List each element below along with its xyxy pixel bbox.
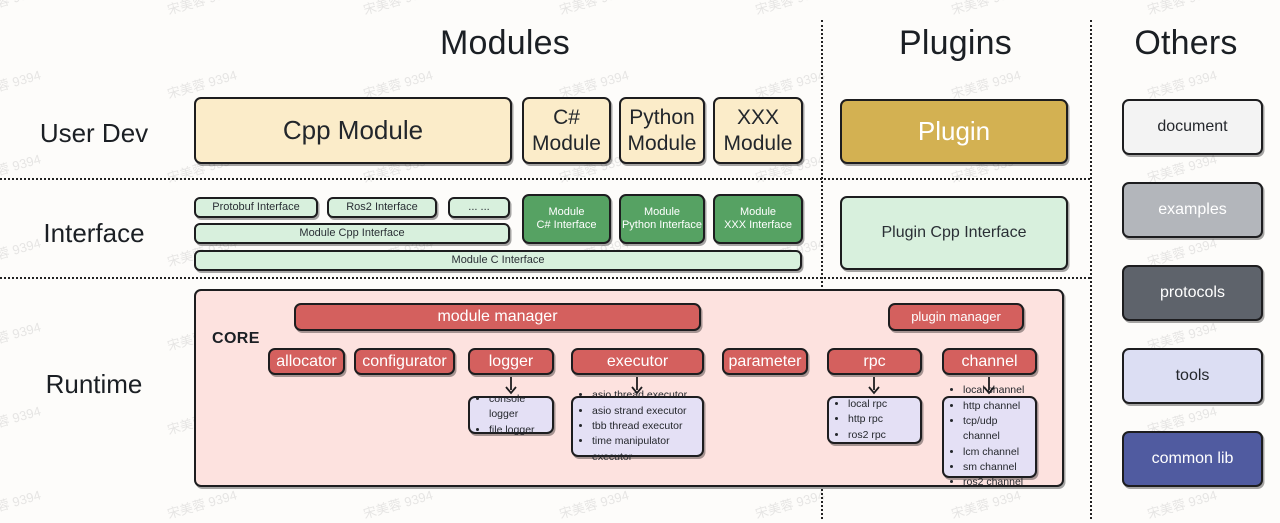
core-label: CORE bbox=[212, 330, 260, 348]
others-common-lib[interactable]: common lib bbox=[1122, 431, 1263, 487]
interface-module-python-line1: Module bbox=[644, 206, 680, 219]
interface-module-python[interactable]: Module Python Interface bbox=[619, 194, 705, 244]
interface-more-label: ... ... bbox=[468, 201, 489, 214]
watermark: 宋美蓉 9394 bbox=[753, 0, 827, 18]
watermark: 宋美蓉 9394 bbox=[0, 317, 43, 355]
component-allocator-label: allocator bbox=[276, 352, 336, 372]
list-item: asio strand executor bbox=[592, 404, 694, 419]
interface-protobuf[interactable]: Protobuf Interface bbox=[194, 197, 318, 218]
others-document-label: document bbox=[1157, 117, 1227, 137]
component-rpc[interactable]: rpc bbox=[827, 348, 922, 375]
interface-module-xxx-line1: Module bbox=[740, 206, 776, 219]
list-item: local channel bbox=[963, 383, 1027, 398]
list-item: local rpc bbox=[848, 397, 887, 412]
others-protocols-label: protocols bbox=[1160, 283, 1225, 303]
list-item: ros2 channel bbox=[963, 475, 1027, 490]
list-item: time manipulator executor bbox=[592, 434, 694, 465]
divider-plugins-others bbox=[1090, 20, 1092, 519]
module-python[interactable]: Python Module bbox=[619, 97, 705, 164]
list-item: tcp/udp channel bbox=[963, 414, 1027, 445]
divider-interface-runtime bbox=[0, 277, 1090, 279]
watermark: 宋美蓉 9394 bbox=[0, 401, 43, 439]
watermark: 宋美蓉 9394 bbox=[0, 0, 43, 18]
list-item: ros2 rpc bbox=[848, 428, 887, 443]
module-csharp[interactable]: C# Module bbox=[522, 97, 611, 164]
others-tools[interactable]: tools bbox=[1122, 348, 1263, 404]
list-item: lcm channel bbox=[963, 445, 1027, 460]
module-python-label-line1: Python bbox=[629, 105, 694, 131]
module-xxx-label-line2: Module bbox=[724, 131, 793, 157]
watermark: 宋美蓉 9394 bbox=[1145, 485, 1219, 523]
component-rpc-label: rpc bbox=[863, 352, 885, 372]
watermark: 宋美蓉 9394 bbox=[165, 0, 239, 18]
watermark: 宋美蓉 9394 bbox=[949, 65, 1023, 103]
interface-module-xxx[interactable]: Module XXX Interface bbox=[713, 194, 803, 244]
watermark: 宋美蓉 9394 bbox=[1145, 0, 1219, 18]
watermark: 宋美蓉 9394 bbox=[361, 0, 435, 18]
component-logger-label: logger bbox=[489, 352, 533, 372]
interface-module-cpp[interactable]: Module Cpp Interface bbox=[194, 223, 510, 244]
module-xxx-label-line1: XXX bbox=[737, 105, 779, 131]
channel-children[interactable]: local channelhttp channeltcp/udp channel… bbox=[942, 396, 1037, 478]
list-item: http channel bbox=[963, 399, 1027, 414]
component-executor-label: executor bbox=[607, 352, 668, 372]
list-item: asio thread executor bbox=[592, 388, 694, 403]
others-common-lib-label: common lib bbox=[1152, 449, 1234, 469]
logger-children-list: console loggerfile logger bbox=[476, 392, 544, 438]
interface-module-csharp-line1: Module bbox=[548, 206, 584, 219]
list-item: tbb thread executor bbox=[592, 419, 694, 434]
diagram-canvas: 宋美蓉 9394宋美蓉 9394宋美蓉 9394宋美蓉 9394宋美蓉 9394… bbox=[0, 0, 1280, 519]
plugin-box[interactable]: Plugin bbox=[840, 99, 1068, 164]
watermark: 宋美蓉 9394 bbox=[949, 0, 1023, 18]
module-python-label-line2: Module bbox=[628, 131, 697, 157]
interface-ros2[interactable]: Ros2 Interface bbox=[327, 197, 437, 218]
interface-plugin-cpp-label: Plugin Cpp Interface bbox=[882, 223, 1027, 243]
divider-userdev-interface bbox=[0, 178, 1090, 180]
list-item: console logger bbox=[489, 392, 544, 423]
interface-ros2-label: Ros2 Interface bbox=[346, 201, 418, 214]
list-item: file logger bbox=[489, 423, 544, 438]
executor-children[interactable]: asio thread executorasio strand executor… bbox=[571, 396, 704, 457]
module-csharp-label-line2: Module bbox=[532, 131, 601, 157]
interface-module-csharp[interactable]: Module C# Interface bbox=[522, 194, 611, 244]
interface-module-c-label: Module C Interface bbox=[452, 254, 545, 267]
module-manager[interactable]: module manager bbox=[294, 303, 701, 331]
component-parameter[interactable]: parameter bbox=[722, 348, 808, 375]
interface-protobuf-label: Protobuf Interface bbox=[212, 201, 299, 214]
watermark: 宋美蓉 9394 bbox=[165, 485, 239, 523]
column-title-modules: Modules bbox=[190, 24, 820, 63]
module-cpp-label: Cpp Module bbox=[283, 115, 423, 147]
module-xxx[interactable]: XXX Module bbox=[713, 97, 803, 164]
row-label-user-dev: User Dev bbox=[0, 118, 188, 149]
column-title-plugins: Plugins bbox=[823, 24, 1088, 63]
row-label-interface: Interface bbox=[0, 218, 188, 249]
plugin-label: Plugin bbox=[918, 116, 990, 148]
others-document[interactable]: document bbox=[1122, 99, 1263, 155]
watermark: 宋美蓉 9394 bbox=[361, 485, 435, 523]
interface-module-cpp-label: Module Cpp Interface bbox=[299, 227, 404, 240]
plugin-manager-label: plugin manager bbox=[911, 309, 1001, 325]
interface-plugin-cpp[interactable]: Plugin Cpp Interface bbox=[840, 196, 1068, 270]
watermark: 宋美蓉 9394 bbox=[0, 485, 43, 523]
rpc-children[interactable]: local rpchttp rpcros2 rpc bbox=[827, 396, 922, 444]
list-item: sm channel bbox=[963, 460, 1027, 475]
interface-module-python-line2: Python Interface bbox=[622, 219, 702, 232]
watermark: 宋美蓉 9394 bbox=[0, 149, 43, 187]
component-channel[interactable]: channel bbox=[942, 348, 1037, 375]
watermark: 宋美蓉 9394 bbox=[557, 485, 631, 523]
others-examples-label: examples bbox=[1158, 200, 1226, 220]
component-logger[interactable]: logger bbox=[468, 348, 554, 375]
executor-children-list: asio thread executorasio strand executor… bbox=[579, 388, 694, 465]
component-executor[interactable]: executor bbox=[571, 348, 704, 375]
channel-children-list: local channelhttp channeltcp/udp channel… bbox=[950, 383, 1027, 490]
interface-module-csharp-line2: C# Interface bbox=[537, 219, 597, 232]
module-csharp-label-line1: C# bbox=[553, 105, 580, 131]
watermark: 宋美蓉 9394 bbox=[0, 65, 43, 103]
interface-more[interactable]: ... ... bbox=[448, 197, 510, 218]
module-cpp[interactable]: Cpp Module bbox=[194, 97, 512, 164]
watermark: 宋美蓉 9394 bbox=[557, 0, 631, 18]
others-tools-label: tools bbox=[1176, 366, 1210, 386]
interface-module-c[interactable]: Module C Interface bbox=[194, 250, 802, 271]
module-manager-label: module manager bbox=[437, 307, 557, 327]
others-protocols[interactable]: protocols bbox=[1122, 265, 1263, 321]
component-configurator-label: configurator bbox=[362, 352, 447, 372]
interface-module-xxx-line2: XXX Interface bbox=[724, 219, 792, 232]
column-title-others: Others bbox=[1092, 24, 1280, 63]
others-examples[interactable]: examples bbox=[1122, 182, 1263, 238]
plugin-manager[interactable]: plugin manager bbox=[888, 303, 1024, 331]
row-label-runtime: Runtime bbox=[0, 369, 188, 400]
watermark: 宋美蓉 9394 bbox=[1145, 65, 1219, 103]
logger-children[interactable]: console loggerfile logger bbox=[468, 396, 554, 434]
component-parameter-label: parameter bbox=[729, 352, 802, 372]
component-allocator[interactable]: allocator bbox=[268, 348, 345, 375]
component-configurator[interactable]: configurator bbox=[354, 348, 455, 375]
rpc-children-list: local rpchttp rpcros2 rpc bbox=[835, 397, 887, 443]
component-channel-label: channel bbox=[961, 352, 1017, 372]
watermark: 宋美蓉 9394 bbox=[753, 485, 827, 523]
list-item: http rpc bbox=[848, 412, 887, 427]
